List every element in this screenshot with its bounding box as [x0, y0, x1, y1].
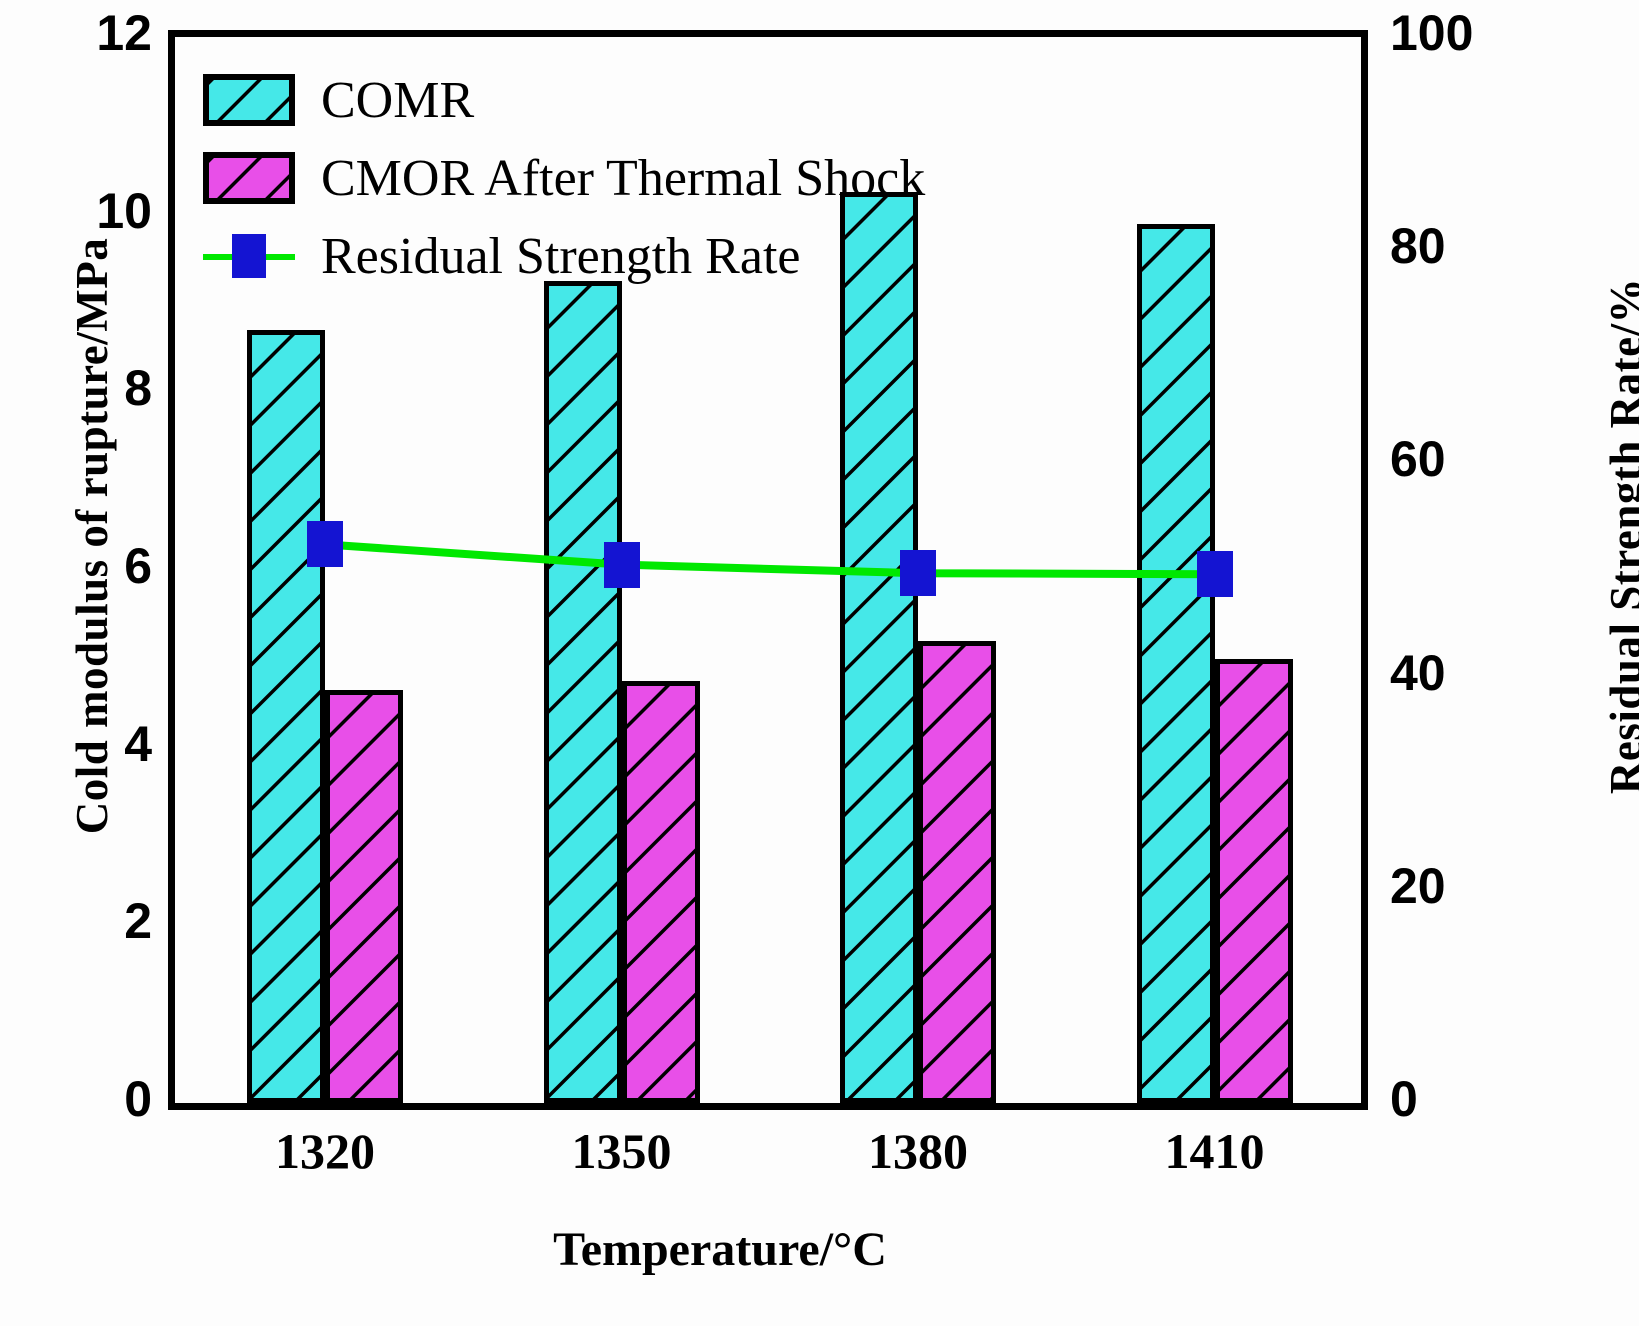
y-axis-tick-label: 12 — [42, 4, 152, 62]
line-marker-residual-rate — [1197, 551, 1233, 597]
y-axis-left-title: Cold modulus of rupture/MPa — [66, 186, 118, 886]
y2-axis-tick-label: 60 — [1390, 430, 1530, 488]
chart-legend: COMR CMOR After Thermal Shock Residual S… — [203, 61, 925, 295]
y-axis-tick-label: 6 — [42, 537, 152, 595]
legend-square-marker — [232, 234, 266, 278]
line-marker-residual-rate — [900, 550, 936, 596]
legend-label-cmor: CMOR After Thermal Shock — [321, 149, 925, 208]
legend-item-residual-strength-rate: Residual Strength Rate — [203, 217, 925, 295]
y2-axis-tick-label: 20 — [1390, 857, 1530, 915]
y-axis-tick-label: 4 — [42, 715, 152, 773]
y2-axis-tick-label: 100 — [1390, 4, 1530, 62]
y-axis-tick-label: 2 — [42, 892, 152, 950]
x-axis-title: Temperature/°C — [0, 1222, 1440, 1277]
legend-swatch-residual-rate-icon — [203, 230, 295, 282]
x-axis-tick-label: 1410 — [1105, 1122, 1325, 1180]
legend-label-residual-rate: Residual Strength Rate — [321, 227, 800, 286]
legend-label-comr: COMR — [321, 71, 474, 130]
chart-figure: Cold modulus of rupture/MPa Residual Str… — [0, 0, 1639, 1326]
x-axis-tick-label: 1320 — [215, 1122, 435, 1180]
legend-item-comr: COMR — [203, 61, 925, 139]
y2-axis-tick-label: 0 — [1390, 1070, 1530, 1128]
y-axis-tick-label: 8 — [42, 359, 152, 417]
y2-axis-tick-label: 40 — [1390, 644, 1530, 702]
line-marker-residual-rate — [604, 542, 640, 588]
legend-swatch-comr-icon — [203, 74, 295, 126]
y-axis-right-title: Residual Strength Rate/% — [1600, 186, 1639, 886]
legend-item-cmor-after-thermal-shock: CMOR After Thermal Shock — [203, 139, 925, 217]
y-axis-tick-label: 10 — [42, 182, 152, 240]
legend-swatch-cmor-icon — [203, 152, 295, 204]
y2-axis-tick-label: 80 — [1390, 217, 1530, 275]
line-marker-residual-rate — [307, 521, 343, 567]
x-axis-tick-label: 1380 — [808, 1122, 1028, 1180]
plot-area: COMR CMOR After Thermal Shock Residual S… — [168, 30, 1368, 1110]
y-axis-tick-label: 0 — [42, 1070, 152, 1128]
x-axis-tick-label: 1350 — [512, 1122, 732, 1180]
